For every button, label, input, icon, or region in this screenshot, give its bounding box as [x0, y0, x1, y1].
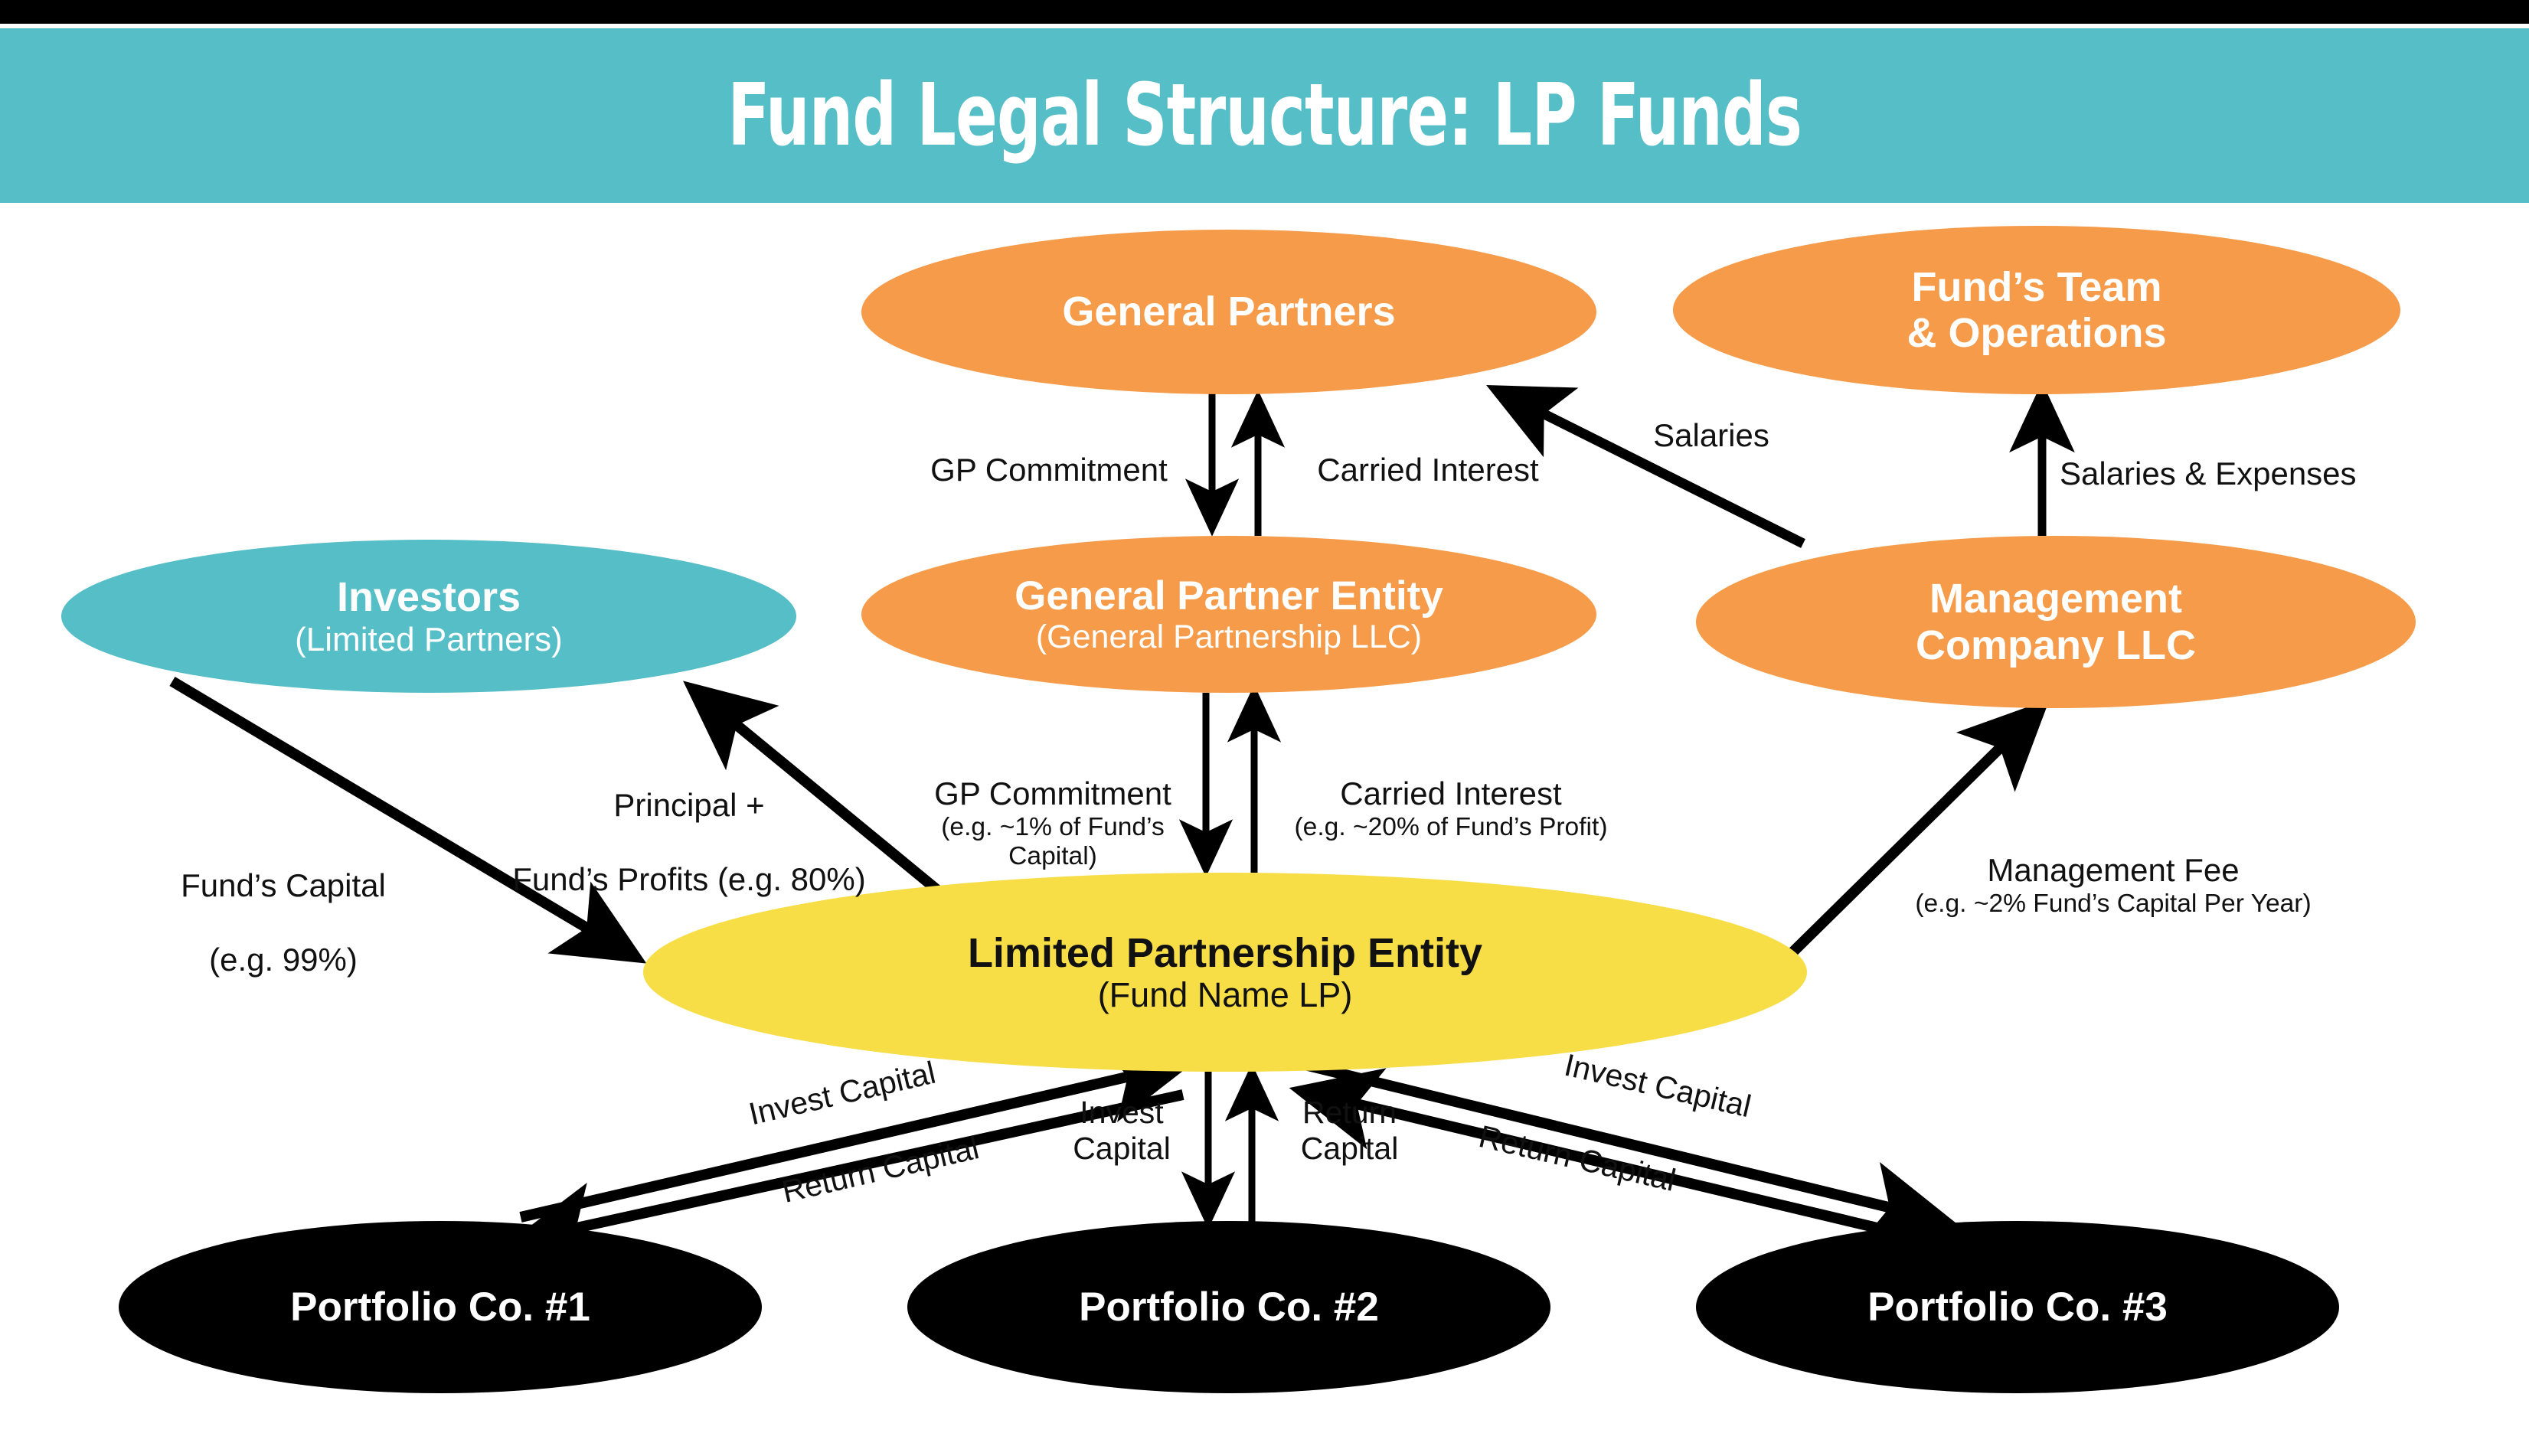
node-general-partners[interactable]: General Partners [861, 230, 1596, 394]
node-investors-line2: (Limited Partners) [295, 621, 563, 658]
node-investors[interactable]: Investors (Limited Partners) [61, 540, 796, 693]
node-gp-entity-line2: (General Partnership LLC) [1036, 619, 1422, 655]
label-carried-interest-top: Carried Interest [1279, 452, 1577, 488]
label-carried-interest-sub: (e.g. ~20% of Fund’s Profit) [1271, 813, 1631, 843]
node-management-company-line1: Management [1929, 576, 2182, 622]
node-portfolio-1[interactable]: Portfolio Co. #1 [119, 1221, 762, 1393]
label-salaries: Salaries [1612, 417, 1811, 454]
node-lp-entity[interactable]: Limited Partnership Entity (Fund Name LP… [643, 873, 1807, 1072]
slide-canvas: Fund Legal Structure: LP Funds [0, 0, 2529, 1456]
node-funds-team-line1: Fund’s Team [1911, 264, 2161, 310]
node-investors-line1: Investors [337, 574, 521, 620]
label-carried-interest: Carried Interest (e.g. ~20% of Fund’s Pr… [1271, 739, 1631, 880]
node-portfolio-2-label: Portfolio Co. #2 [1079, 1285, 1379, 1330]
label-principal-profits-main: Principal + [613, 787, 764, 823]
label-funds-capital-sub: (e.g. 99%) [209, 942, 358, 978]
label-funds-capital-main: Fund’s Capital [181, 867, 386, 903]
label-salaries-expenses: Salaries & Expenses [2060, 455, 2442, 492]
node-gp-entity-line1: General Partner Entity [1015, 573, 1443, 619]
label-management-fee-main: Management Fee [1987, 852, 2239, 888]
node-management-company[interactable]: Management Company LLC [1696, 536, 2416, 708]
label-funds-capital: Fund’s Capital (e.g. 99%) [123, 831, 444, 978]
label-gp-commitment-sub: (e.g. ~1% of Fund’s Capital) [903, 813, 1202, 872]
label-gp-commitment-top: GP Commitment [900, 452, 1198, 488]
label-management-fee: Management Fee (e.g. ~2% Fund’s Capital … [1868, 815, 2358, 956]
node-funds-team-line2: & Operations [1907, 310, 2166, 356]
label-principal-profits-sub: Fund’s Profits (e.g. 80%) [512, 861, 865, 897]
label-gp-commitment-main: GP Commitment [934, 775, 1171, 811]
node-portfolio-2[interactable]: Portfolio Co. #2 [907, 1221, 1550, 1393]
node-portfolio-3-label: Portfolio Co. #3 [1867, 1285, 2168, 1330]
node-portfolio-3[interactable]: Portfolio Co. #3 [1696, 1221, 2339, 1393]
label-gp-commitment: GP Commitment (e.g. ~1% of Fund’s Capita… [903, 739, 1202, 909]
label-return-capital-mid: Return Capital [1267, 1095, 1432, 1167]
node-lp-entity-line1: Limited Partnership Entity [968, 930, 1482, 976]
label-carried-interest-main: Carried Interest [1340, 775, 1561, 811]
node-general-partners-label: General Partners [1062, 289, 1395, 335]
label-invest-capital-mid: Invest Capital [1041, 1095, 1202, 1167]
label-principal-profits: Principal + Fund’s Profits (e.g. 80%) [459, 750, 919, 898]
node-portfolio-1-label: Portfolio Co. #1 [290, 1285, 590, 1330]
node-lp-entity-line2: (Fund Name LP) [1098, 976, 1353, 1014]
node-management-company-line2: Company LLC [1916, 622, 2196, 668]
node-funds-team[interactable]: Fund’s Team & Operations [1673, 226, 2400, 394]
label-management-fee-sub: (e.g. ~2% Fund’s Capital Per Year) [1868, 890, 2358, 919]
node-gp-entity[interactable]: General Partner Entity (General Partners… [861, 536, 1596, 693]
